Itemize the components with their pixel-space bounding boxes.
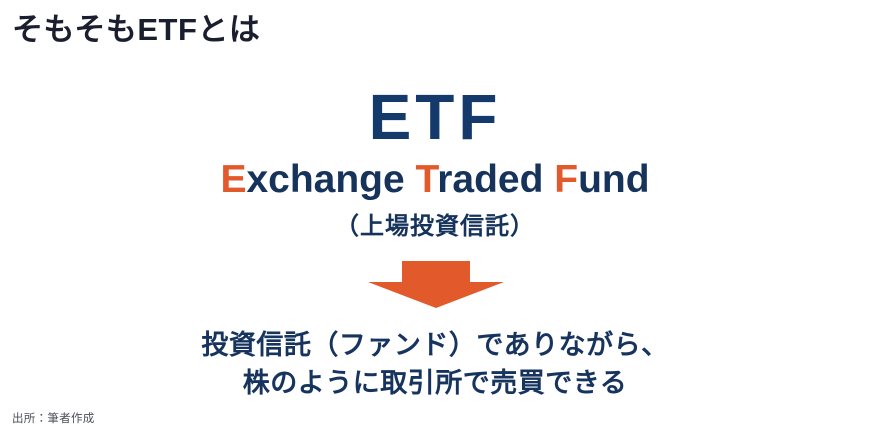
source-note: 出所：筆者作成: [12, 410, 95, 426]
down-arrow-shape: [368, 261, 504, 308]
slide-canvas: そもそもETFとは ETF Exchange Traded Fund （上場投資…: [0, 0, 870, 447]
etf-acronym-heading: ETF: [0, 84, 870, 151]
down-arrow-polygon: [368, 261, 504, 308]
expansion-space-2: [543, 158, 554, 201]
expansion-rest-traded: raded: [437, 158, 543, 201]
etf-japanese-name: （上場投資信託）: [0, 211, 870, 242]
expansion-space-1: [405, 158, 416, 201]
expansion-rest-exchange: xchange: [246, 158, 404, 201]
expansion-rest-fund: und: [578, 158, 649, 201]
expansion-cap-t: T: [416, 158, 438, 201]
down-arrow-icon: [368, 261, 504, 308]
conclusion-text: 投資信託（ファンド）でありながら、 株のように取引所で売買できる: [0, 326, 870, 403]
etf-expansion-text: Exchange Traded Fund: [0, 158, 870, 203]
conclusion-line-1: 投資信託（ファンド）でありながら、: [0, 326, 870, 364]
expansion-cap-f: F: [554, 158, 578, 201]
page-title: そもそもETFとは: [12, 10, 260, 50]
expansion-cap-e: E: [220, 158, 246, 201]
conclusion-line-2: 株のように取引所で売買できる: [0, 364, 870, 402]
